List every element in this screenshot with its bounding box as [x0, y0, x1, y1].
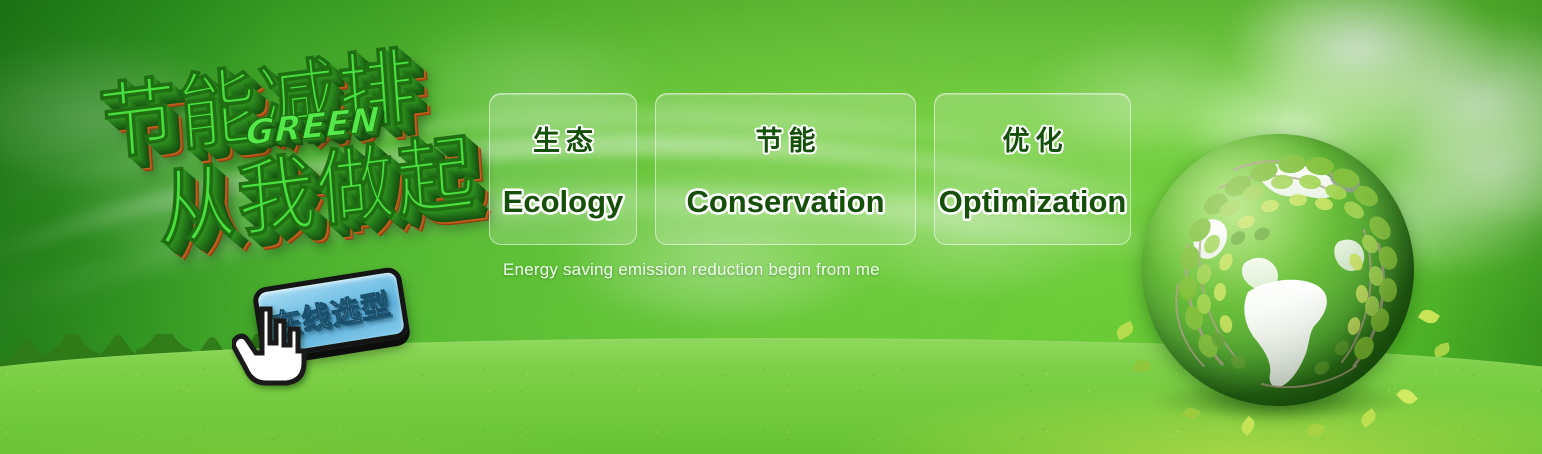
feature-card-en-label: Ecology	[503, 184, 624, 220]
leafy-green-globe-icon	[1128, 128, 1428, 428]
feature-card-conservation[interactable]: 节能 Conservation	[655, 93, 916, 245]
headline-3d-artwork: 节能减排 GREEN 从我做起	[88, 20, 504, 287]
globe-sphere	[1142, 134, 1414, 406]
feature-card-en-label: Conservation	[686, 184, 884, 220]
banner-tagline: Energy saving emission reduction begin f…	[503, 260, 880, 280]
feature-card-en-label: Optimization	[939, 184, 1127, 220]
pointing-hand-cursor-icon	[232, 303, 310, 389]
feature-card-ecology[interactable]: 生态 Ecology	[489, 93, 637, 245]
feature-card-cn-label: 优化	[997, 119, 1069, 158]
feature-card-optimization[interactable]: 优化 Optimization	[934, 93, 1131, 245]
feature-card-cn-label: 节能	[750, 119, 822, 158]
green-energy-banner: 节能减排 GREEN 从我做起 在线选型 生态 Ecology 节能 Conse…	[0, 0, 1542, 454]
feature-card-list: 生态 Ecology 节能 Conservation 优化 Optimizati…	[489, 93, 1131, 245]
feature-card-cn-label: 生态	[527, 119, 599, 158]
